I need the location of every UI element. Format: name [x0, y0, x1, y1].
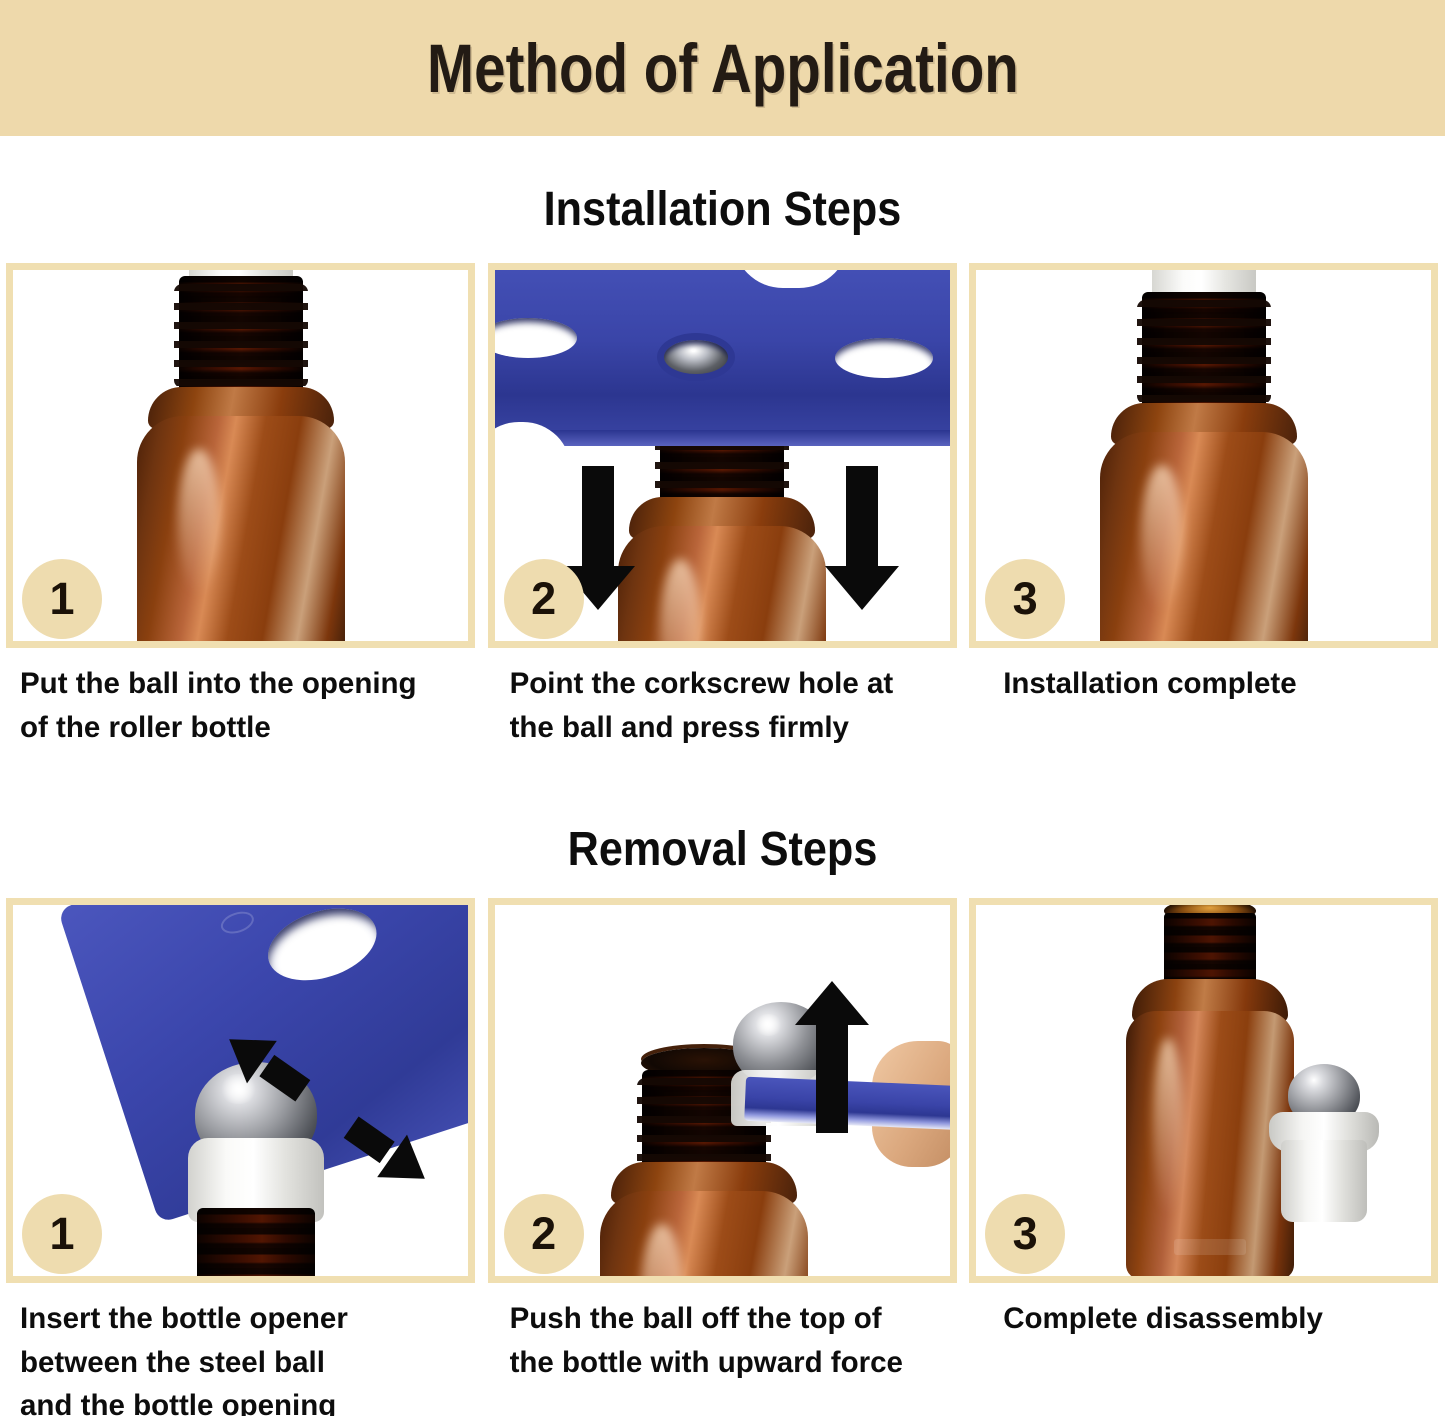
opener-notch-bottom	[495, 422, 571, 470]
detached-roller-ball-assembly	[1269, 1072, 1379, 1222]
arrow-up-icon	[795, 981, 869, 1133]
opener-notch-top	[733, 270, 849, 288]
step-number-badge: 1	[22, 559, 102, 639]
step-number-badge: 3	[985, 559, 1065, 639]
install-step-1-caption: Put the ball into the opening of the rol…	[6, 662, 476, 749]
installation-steps-row: 1 Put the ball into the opening of the r…	[0, 263, 1445, 749]
bottle-threaded-neck	[1142, 292, 1266, 412]
bottle-threaded-neck	[179, 276, 303, 396]
step-number-badge: 2	[504, 559, 584, 639]
install-step-2-image: 2	[488, 263, 957, 648]
opener-hole-left	[495, 318, 577, 358]
page-title: Method of Application	[427, 29, 1019, 108]
bottle-body	[137, 416, 345, 641]
section-heading-installation: Installation Steps	[72, 182, 1373, 237]
removal-step-3-caption: Complete disassembly	[969, 1297, 1439, 1341]
bottle-body	[600, 1191, 808, 1276]
removal-step-3-image: 3	[969, 898, 1438, 1283]
removal-step-2: 2 Push the ball off the top of the bottl…	[482, 898, 964, 1416]
header-banner: Method of Application	[0, 0, 1445, 136]
opener-hole	[259, 905, 386, 993]
bottle-body	[1100, 432, 1308, 641]
bottle-threaded-neck	[1164, 913, 1256, 989]
install-step-1: 1 Put the ball into the opening of the r…	[0, 263, 482, 749]
opener-corkscrew-hole-with-ball	[664, 340, 728, 374]
step-number-badge: 2	[504, 1194, 584, 1274]
roller-housing	[1281, 1140, 1367, 1222]
bottle-threaded-neck	[197, 1208, 315, 1276]
bottle-body	[618, 526, 826, 641]
step-number-badge: 1	[22, 1194, 102, 1274]
opener-dimple	[218, 908, 257, 938]
bottle-volume-marking	[1174, 1239, 1246, 1255]
removal-step-1-image: 1	[6, 898, 475, 1283]
install-step-3-caption: Installation complete	[969, 662, 1439, 706]
removal-step-1: 1 Insert the bottle opener between the s…	[0, 898, 482, 1416]
infographic-page: Method of Application Installation Steps…	[0, 0, 1445, 1416]
removal-step-3: 3 Complete disassembly	[963, 898, 1445, 1416]
install-step-3-image: 3	[969, 263, 1438, 648]
opener-hole-right	[835, 338, 933, 378]
install-step-1-image: 1	[6, 263, 475, 648]
blue-bottle-opener-tool	[495, 270, 950, 446]
removal-step-2-caption: Push the ball off the top of the bottle …	[488, 1297, 958, 1384]
install-step-2-caption: Point the corkscrew hole at the ball and…	[488, 662, 958, 749]
removal-steps-row: 1 Insert the bottle opener between the s…	[0, 898, 1445, 1416]
removal-step-2-image: 2	[488, 898, 957, 1283]
removal-step-1-caption: Insert the bottle opener between the ste…	[6, 1297, 476, 1416]
arrow-down-icon	[825, 466, 899, 610]
step-number-badge: 3	[985, 1194, 1065, 1274]
install-step-3: 3 Installation complete	[963, 263, 1445, 749]
install-step-2: 2 Point the corkscrew hole at the ball a…	[482, 263, 964, 749]
section-heading-removal: Removal Steps	[72, 822, 1373, 877]
